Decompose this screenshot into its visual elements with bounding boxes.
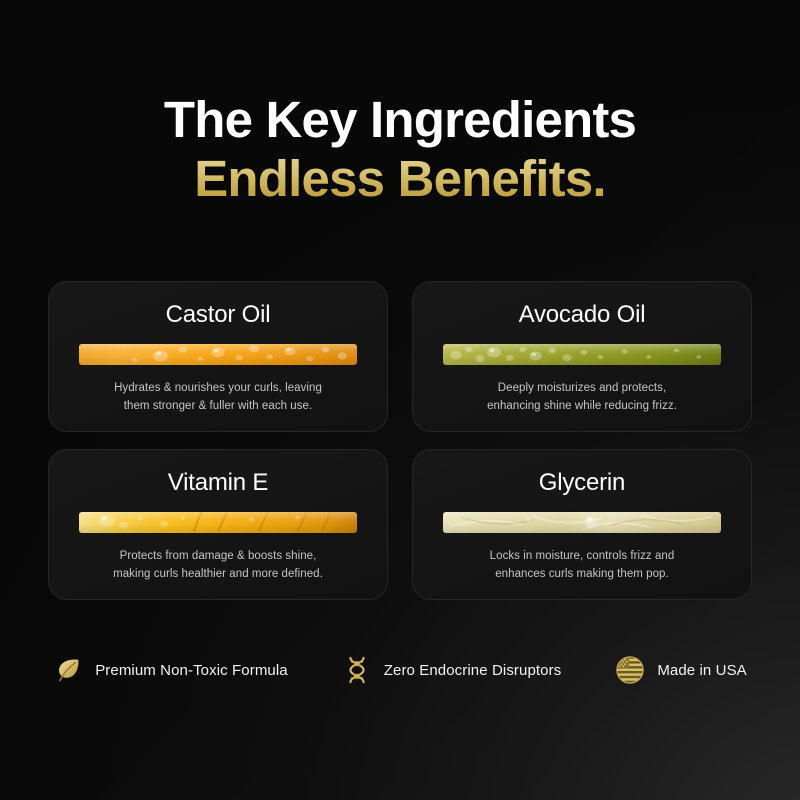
swatch-gloss (443, 512, 721, 533)
vitamin-e-texture-bar (79, 512, 357, 533)
trust-badge-premium-non-toxic: Premium Non-Toxic Formula (53, 655, 288, 685)
desc-line-1: Hydrates & nourishes your curls, leaving (114, 382, 322, 394)
desc-line-2: enhances curls making them pop. (495, 568, 669, 580)
ingredient-card-avocado-oil[interactable]: Avocado Oil (412, 281, 752, 432)
badge-label: Made in USA (657, 662, 746, 679)
desc-line-2: them stronger & fuller with each use. (124, 400, 313, 412)
dna-helix-icon (342, 655, 372, 685)
avocado-oil-texture-bar (443, 344, 721, 365)
trust-badge-made-in-usa: Made in USA (615, 655, 746, 685)
ingredient-card-grid: Castor Oil (48, 281, 752, 600)
leaf-icon (53, 655, 83, 685)
desc-line-1: Deeply moisturizes and protects, (498, 382, 666, 394)
trust-badge-row: Premium Non-Toxic Formula Zero Endocrine… (0, 655, 800, 685)
ingredient-title: Avocado Oil (439, 302, 725, 328)
page-title: The Key Ingredients Endless Benefits. (0, 92, 800, 207)
badge-label: Premium Non-Toxic Formula (95, 662, 288, 679)
headline-line-2: Endless Benefits. (0, 151, 800, 207)
trust-badge-zero-endocrine-disruptors: Zero Endocrine Disruptors (342, 655, 562, 685)
swatch-gloss (79, 344, 357, 365)
desc-line-2: enhancing shine while reducing frizz. (487, 400, 677, 412)
headline-line-1: The Key Ingredients (0, 92, 800, 147)
ingredient-card-glycerin[interactable]: Glycerin (412, 449, 752, 600)
usa-flag-circle-icon (615, 655, 645, 685)
swatch-gloss (79, 512, 357, 533)
ingredient-description: Locks in moisture, controls frizz and en… (439, 548, 725, 584)
castor-oil-texture-bar (79, 344, 357, 365)
ingredient-card-castor-oil[interactable]: Castor Oil (48, 281, 388, 432)
ingredient-title: Glycerin (439, 470, 725, 496)
ingredient-description: Deeply moisturizes and protects, enhanci… (439, 380, 725, 416)
ingredient-title: Vitamin E (75, 470, 361, 496)
desc-line-1: Protects from damage & boosts shine, (120, 550, 317, 562)
ingredient-card-vitamin-e[interactable]: Vitamin E (48, 449, 388, 600)
desc-line-1: Locks in moisture, controls frizz and (490, 550, 675, 562)
badge-label: Zero Endocrine Disruptors (384, 662, 562, 679)
ingredient-description: Protects from damage & boosts shine, mak… (75, 548, 361, 584)
ingredient-description: Hydrates & nourishes your curls, leaving… (75, 380, 361, 416)
glycerin-texture-bar (443, 512, 721, 533)
ingredients-infographic: The Key Ingredients Endless Benefits. Ca… (0, 0, 800, 800)
desc-line-2: making curls healthier and more defined. (113, 568, 323, 580)
ingredient-title: Castor Oil (75, 302, 361, 328)
swatch-gloss (443, 344, 721, 365)
